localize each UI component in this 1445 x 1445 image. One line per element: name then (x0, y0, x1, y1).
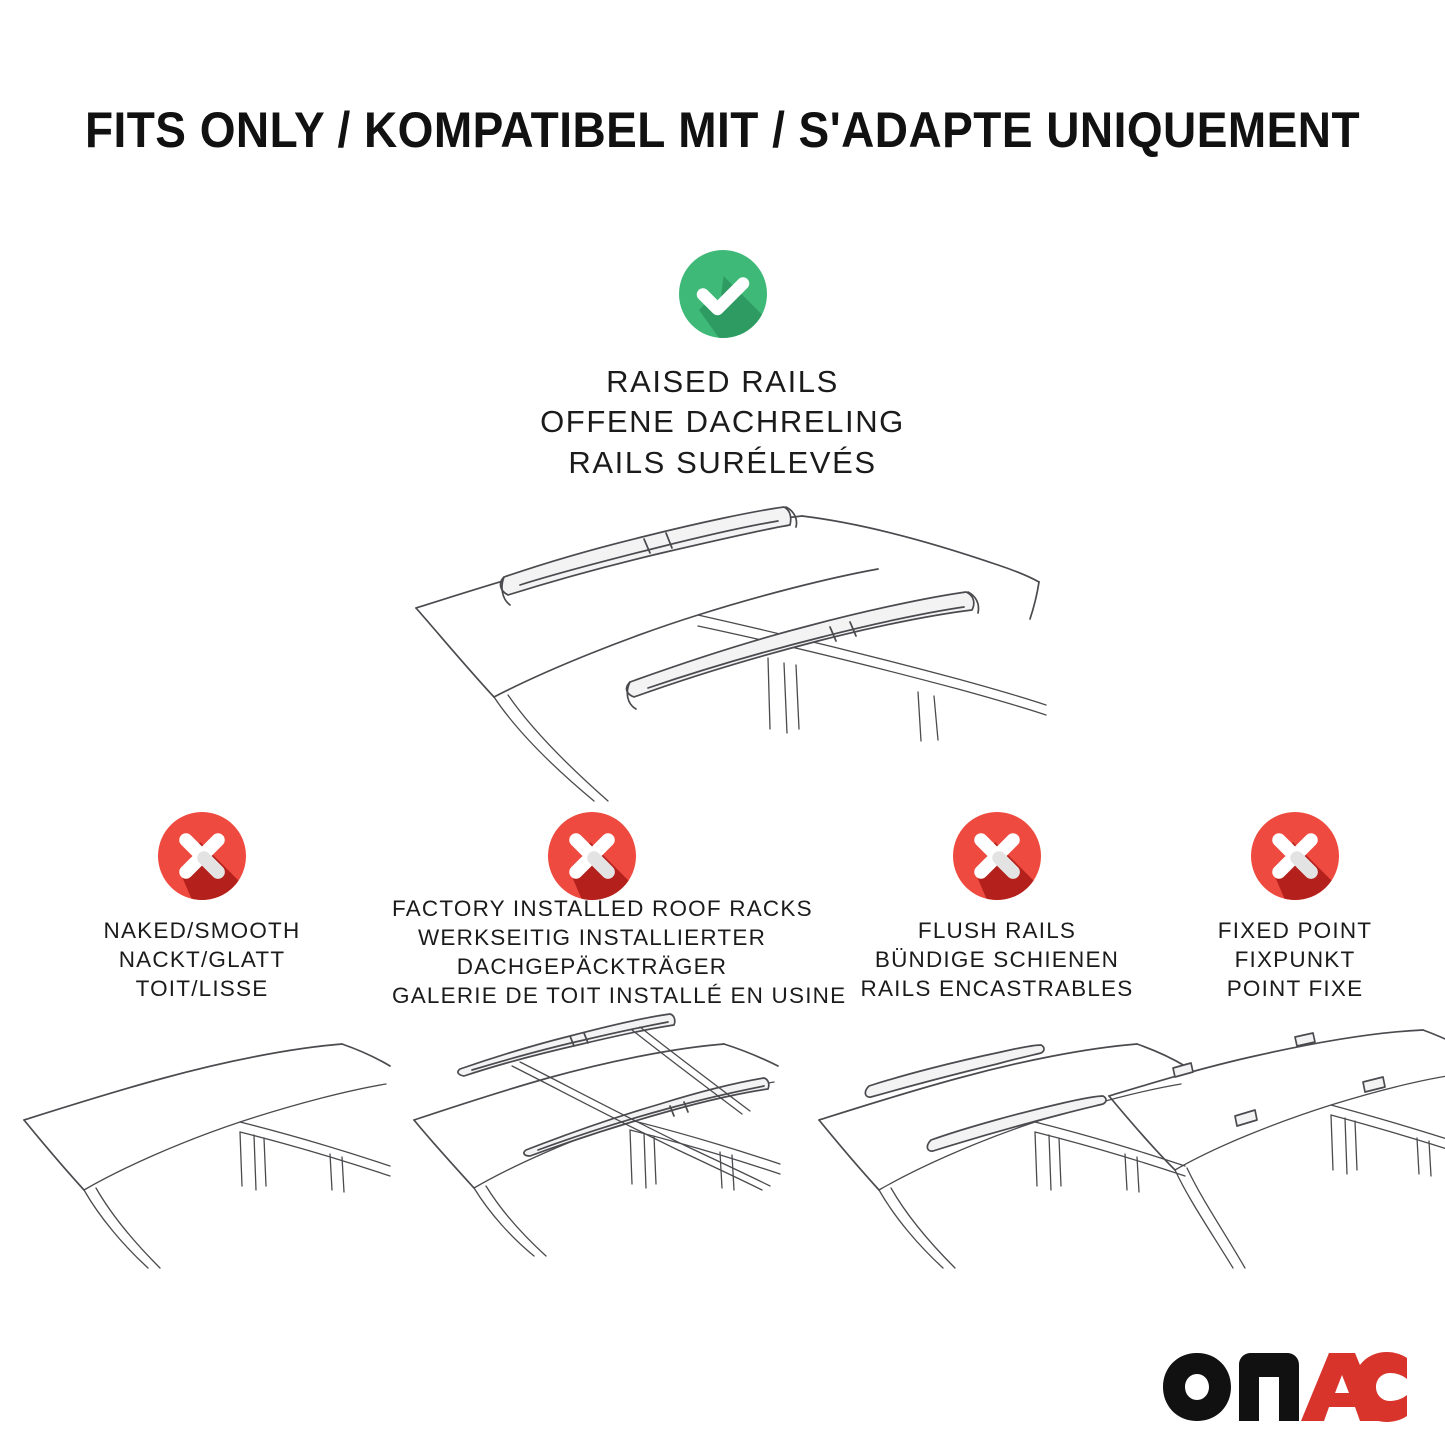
item-label-en: FACTORY INSTALLED ROOF RACKS (392, 894, 792, 923)
item-label-de-2: DACHGEPÄCKTRÄGER (392, 952, 792, 981)
item-label-fr: POINT FIXE (1095, 974, 1445, 1003)
x-mark-icon (1251, 812, 1339, 900)
omac-logo (1161, 1351, 1409, 1423)
item-label-fr: TOIT/LISSE (2, 974, 402, 1003)
check-mark-icon (679, 250, 767, 338)
fitment-infographic: FITS ONLY / KOMPATIBEL MIT / S'ADAPTE UN… (0, 0, 1445, 1445)
x-circle-icon (953, 812, 1041, 900)
incompatible-item-naked-smooth: NAKED/SMOOTH NACKT/GLATT TOIT/LISSE (2, 812, 402, 912)
incompatible-item-fixed-point: FIXED POINT FIXPUNKT POINT FIXE (1095, 812, 1445, 912)
x-circle-icon-wrap (2, 812, 402, 912)
page-title: FITS ONLY / KOMPATIBEL MIT / S'ADAPTE UN… (58, 101, 1387, 159)
x-circle-icon (548, 812, 636, 900)
compatible-label-de: OFFENE DACHRELING (0, 402, 1445, 442)
x-mark-icon (548, 812, 636, 900)
car-roof-fixed-point-illustration (1105, 1020, 1445, 1270)
incompatible-section: NAKED/SMOOTH NACKT/GLATT TOIT/LISSE (0, 812, 1445, 1282)
item-labels: FACTORY INSTALLED ROOF RACKS WERKSEITIG … (392, 894, 792, 1010)
item-labels: FIXED POINT FIXPUNKT POINT FIXE (1095, 916, 1445, 1003)
compatible-label-en: RAISED RAILS (0, 362, 1445, 402)
check-circle-icon (679, 250, 767, 338)
item-labels: NAKED/SMOOTH NACKT/GLATT TOIT/LISSE (2, 916, 402, 1003)
x-circle-icon (1251, 812, 1339, 900)
compatible-label-fr: RAILS SURÉLEVÉS (0, 443, 1445, 483)
item-label-de: NACKT/GLATT (2, 945, 402, 974)
compatible-section: RAISED RAILS OFFENE DACHRELING RAILS SUR… (0, 250, 1445, 483)
car-roof-raised-rails-illustration (398, 483, 1048, 803)
car-roof-naked-illustration (12, 1020, 392, 1270)
item-label-en: FIXED POINT (1095, 916, 1445, 945)
item-label-en: NAKED/SMOOTH (2, 916, 402, 945)
item-label-de: FIXPUNKT (1095, 945, 1445, 974)
item-label-fr: GALERIE DE TOIT INSTALLÉ EN USINE (392, 981, 792, 1010)
x-circle-icon (158, 812, 246, 900)
x-circle-icon-wrap (1095, 812, 1445, 912)
car-roof-factory-racks-illustration (402, 1008, 782, 1258)
incompatible-item-factory-roof-racks: FACTORY INSTALLED ROOF RACKS WERKSEITIG … (392, 812, 792, 912)
x-mark-icon (953, 812, 1041, 900)
compatible-labels: RAISED RAILS OFFENE DACHRELING RAILS SUR… (0, 362, 1445, 483)
omac-wordmark-icon (1161, 1351, 1409, 1423)
x-mark-icon (158, 812, 246, 900)
item-label-de-1: WERKSEITIG INSTALLIERTER (392, 923, 792, 952)
